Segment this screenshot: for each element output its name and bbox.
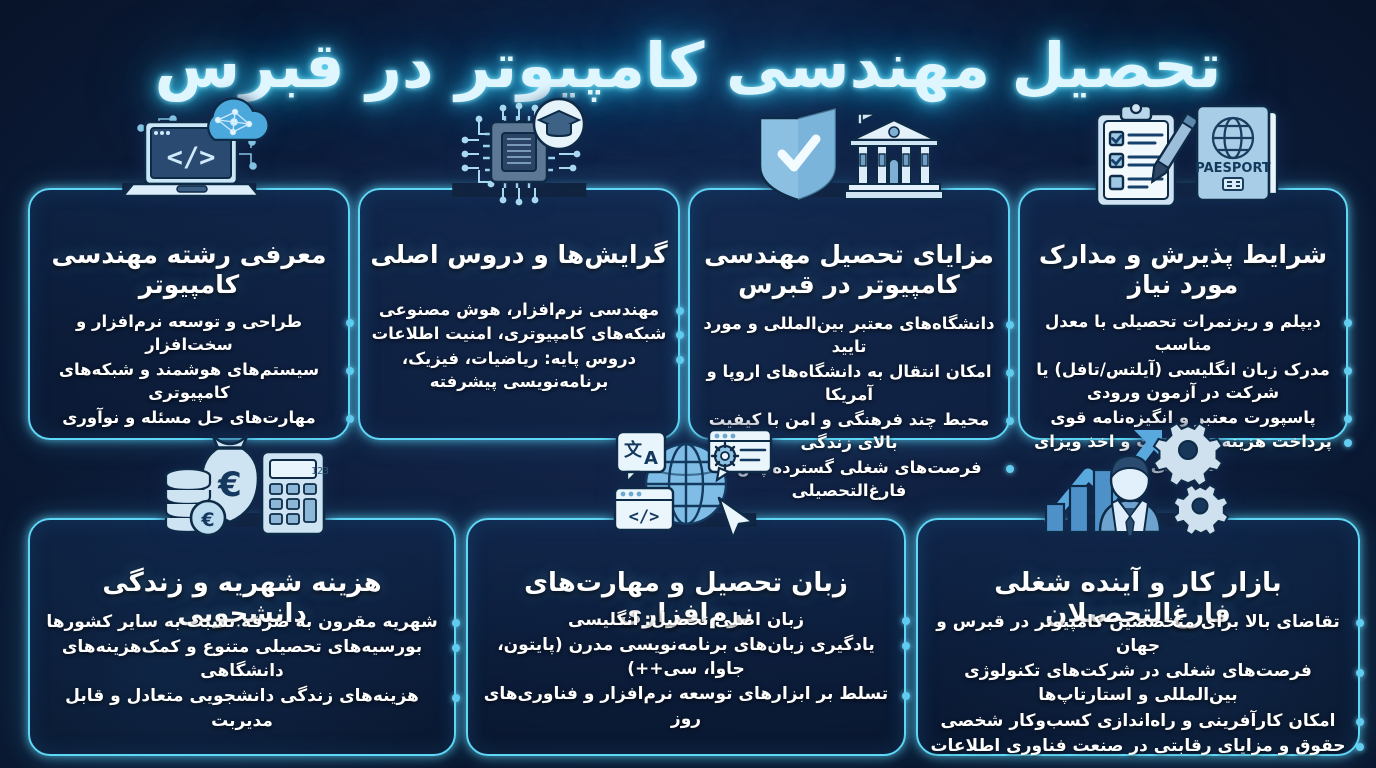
list-item: بورسیه‌های تحصیلی متنوع و کمک‌هزینه‌های … <box>38 635 446 683</box>
list-item: پرداخت هزینه درخواست و اخذ ویزای تحصیلی <box>1028 430 1338 477</box>
svg-text:123: 123 <box>311 466 329 477</box>
list-item: مدرک زبان انگلیسی (آیلتس/تافل) یا شرکت د… <box>1028 358 1338 405</box>
card-bullets: تقاضای بالا برای متخصصین کامپیوتر در قبر… <box>926 610 1350 759</box>
list-item: دروس پایه: ریاضیات، فیزیک، برنامه‌نویسی … <box>368 347 670 394</box>
list-item: دیپلم و ریزنمرات تحصیلی با معدل مناسب <box>1028 310 1338 357</box>
list-item: تقاضای بالا برای متخصصین کامپیوتر در قبر… <box>926 610 1350 658</box>
list-item: فرصت‌های شغلی در شرکت‌های تکنولوژی بین‌ا… <box>926 659 1350 707</box>
card-title: گرایش‌ها و دروس اصلی <box>366 240 672 270</box>
svg-text:文: 文 <box>624 439 643 461</box>
list-item: فرصت‌های شغلی گسترده پس از فارغ‌التحصیلی <box>698 456 1000 503</box>
list-item: تسلط بر ابزارهای توسعه نرم‌افزار و فناور… <box>476 682 896 730</box>
card-title: معرفی رشته مهندسی کامپیوتر <box>36 240 342 299</box>
svg-text:€: € <box>217 465 242 505</box>
svg-text:A: A <box>644 448 658 469</box>
card-benefits[interactable]: مزایای تحصیل مهندسی کامپیوتر در قبرس دان… <box>688 188 1010 440</box>
card-bullets: طراحی و توسعه نرم‌افزار و سخت‌افزار سیست… <box>38 310 340 430</box>
card-language[interactable]: 文 A </> <box>466 518 906 756</box>
list-item: امکان کارآفرینی و راه‌اندازی کسب‌وکار شخ… <box>926 709 1350 733</box>
list-item: زبان اصلی تحصیل: انگلیسی <box>476 608 896 632</box>
passport-label: PAESPORT <box>1195 161 1271 176</box>
list-item: سیستم‌های هوشمند و شبکه‌های کامپیوتری <box>38 358 340 405</box>
list-item: پاسپورت معتبر و انگیزه‌نامه قوی <box>1028 406 1338 429</box>
infographic-canvas: تحصیل مهندسی کامپیوتر در قبرس </> <box>0 0 1376 768</box>
list-item: حقوق و مزایای رقابتی در صنعت فناوری اطلا… <box>926 734 1350 758</box>
list-item: شبکه‌های کامپیوتری، امنیت اطلاعات <box>368 322 670 345</box>
card-admission[interactable]: PAESPORT شرایط پذیرش و مدارک مورد نیاز د… <box>1018 188 1348 440</box>
card-bullets: دانشگاه‌های معتبر بین‌المللی و مورد تایی… <box>698 312 1000 503</box>
list-item: مهارت‌های حل مسئله و نوآوری <box>38 406 340 429</box>
list-item: امکان انتقال به دانشگاه‌های اروپا و آمری… <box>698 360 1000 407</box>
list-item: شهریه مقرون به صرفه نسبت به سایر کشورها <box>38 610 446 634</box>
card-title: شرایط پذیرش و مدارک مورد نیاز <box>1026 240 1340 299</box>
list-item: مهندسی نرم‌افزار، هوش مصنوعی <box>368 298 670 321</box>
card-cost[interactable]: € € 123 هزینه شهریه و زندگی دانشجویی <box>28 518 456 756</box>
svg-text:</>: </> <box>167 142 216 173</box>
list-item: دانشگاه‌های معتبر بین‌المللی و مورد تایی… <box>698 312 1000 359</box>
page-title: تحصیل مهندسی کامپیوتر در قبرس <box>0 10 1376 120</box>
card-title: مزایای تحصیل مهندسی کامپیوتر در قبرس <box>696 240 1002 299</box>
card-career[interactable]: بازار کار و آینده شغلی فارغ‌التحصیلان تق… <box>916 518 1360 756</box>
card-intro[interactable]: </> معرفی رشته مهندسی کامپیوتر طراحی و <box>28 188 350 440</box>
card-bullets: دیپلم و ریزنمرات تحصیلی با معدل مناسب مد… <box>1028 310 1338 478</box>
list-item: هزینه‌های زندگی دانشجویی متعادل و قابل م… <box>38 684 446 732</box>
card-bullets: مهندسی نرم‌افزار، هوش مصنوعی شبکه‌های کا… <box>368 298 670 395</box>
card-bullets: زبان اصلی تحصیل: انگلیسی یادگیری زبان‌ها… <box>476 608 896 732</box>
list-item: محیط چند فرهنگی و امن با کیفیت بالای زند… <box>698 408 1000 455</box>
card-majors[interactable]: گرایش‌ها و دروس اصلی مهندسی نرم‌افزار، ه… <box>358 188 680 440</box>
list-item: یادگیری زبان‌های برنامه‌نویسی مدرن (پایت… <box>476 633 896 681</box>
list-item: طراحی و توسعه نرم‌افزار و سخت‌افزار <box>38 310 340 357</box>
card-bullets: شهریه مقرون به صرفه نسبت به سایر کشورها … <box>38 610 446 734</box>
